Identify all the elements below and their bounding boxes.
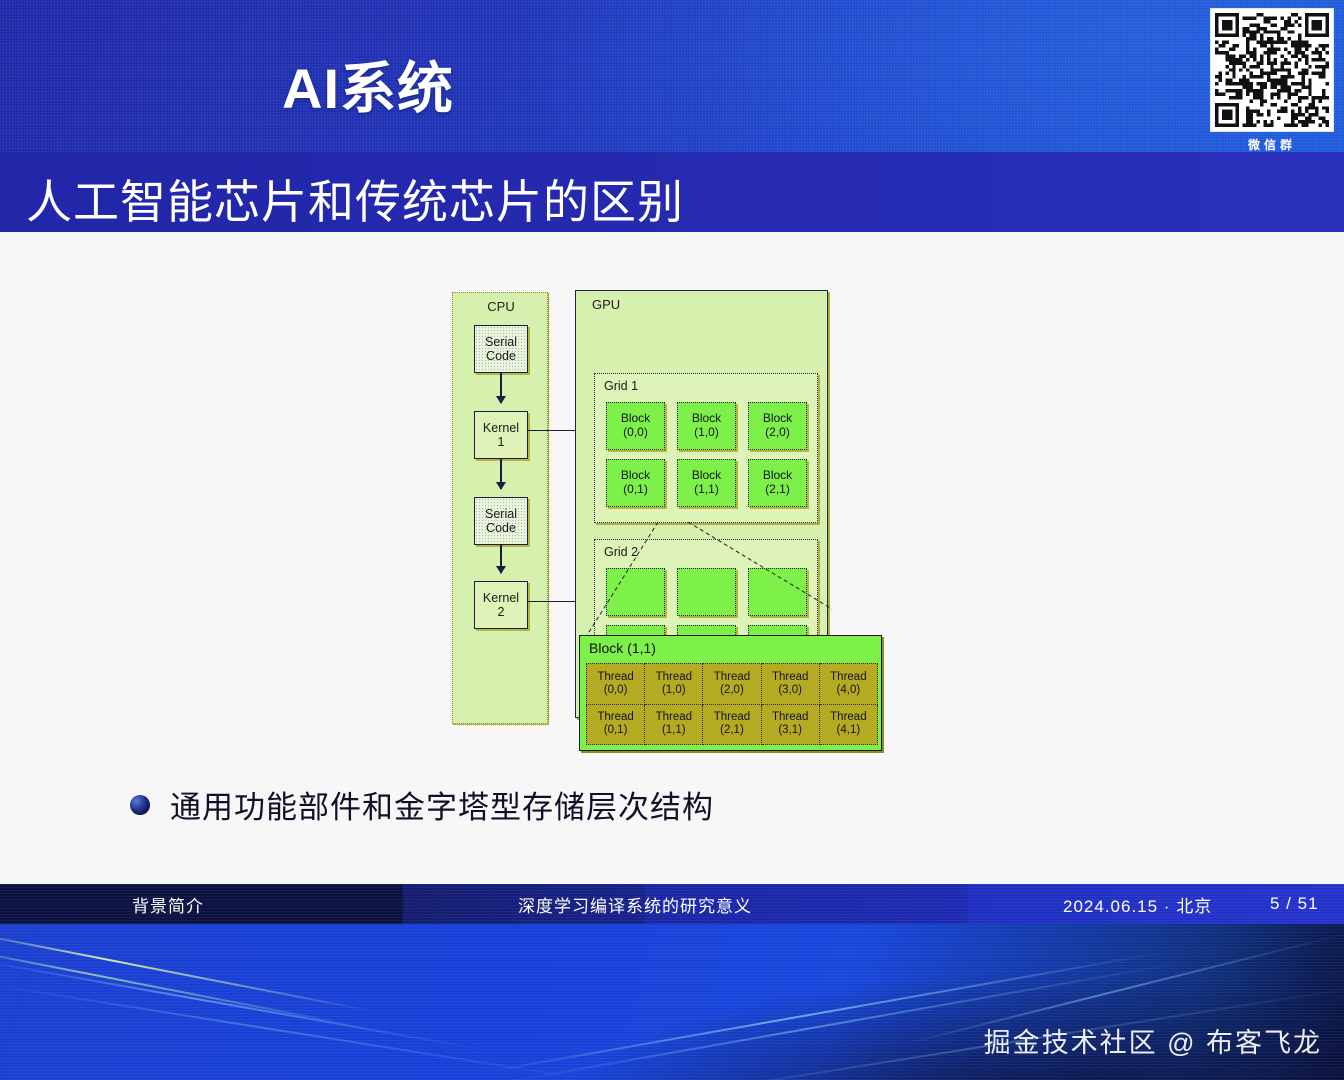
- grid1-block-1-1: Block (1,1): [677, 459, 736, 507]
- block-line-1: Block: [692, 412, 721, 426]
- thread-line-1: Thread: [714, 711, 750, 723]
- block-line-1: Block: [763, 469, 792, 483]
- node-line-2: Code: [486, 521, 516, 535]
- thread-cell-1-0: Thread (1,0): [645, 664, 703, 705]
- grid1-block-2-0: Block (2,0): [748, 402, 807, 450]
- cpu-node-serial-code-1: Serial Code: [474, 325, 528, 373]
- grid2-block-2-0: [748, 568, 807, 616]
- grid-label: Grid 2: [604, 545, 638, 559]
- block-line-2: (1,0): [694, 426, 719, 440]
- thread-cell-2-1: Thread (2,1): [703, 704, 761, 745]
- node-line-1: Kernel: [483, 591, 519, 605]
- thread-line-2: (1,1): [662, 724, 686, 736]
- page-title: AI系统: [282, 44, 454, 125]
- thread-cell-4-1: Thread (4,1): [819, 704, 877, 745]
- slide-footer-bar: 背景简介 深度学习编译系统的研究意义 2024.06.15 · 北京 5 / 5…: [0, 884, 1344, 924]
- cpu-node-kernel-1: Kernel 1: [474, 411, 528, 459]
- thread-cell-0-1: Thread (0,1): [587, 704, 645, 745]
- cuda-architecture-diagram: CPU Serial Code Kernel 1 Serial Code: [452, 290, 832, 760]
- thread-line-2: (1,0): [662, 684, 686, 696]
- watermark-text: 掘金技术社区 @ 布客飞龙: [984, 1021, 1322, 1060]
- cpu-node-serial-code-2: Serial Code: [474, 497, 528, 545]
- block-line-1: Block: [692, 469, 721, 483]
- section-subtitle-bar: 人工智能芯片和传统芯片的区别: [0, 152, 1344, 232]
- thread-line-2: (2,0): [720, 684, 744, 696]
- node-line-1: Serial: [485, 507, 517, 521]
- thread-line-1: Thread: [656, 711, 692, 723]
- qr-code-svg: [1215, 13, 1329, 127]
- thread-cell-3-1: Thread (3,1): [761, 704, 819, 745]
- thread-line-2: (4,0): [837, 684, 861, 696]
- node-line-2: Code: [486, 349, 516, 363]
- grid1-block-0-1: Block (0,1): [606, 459, 665, 507]
- thread-cell-3-0: Thread (3,0): [761, 664, 819, 705]
- thread-line-1: Thread: [772, 671, 808, 683]
- block-line-2: (1,1): [694, 483, 719, 497]
- thread-row: Thread (0,1) Thread (1,1) Thread (2,1): [587, 704, 878, 745]
- block-line-2: (2,0): [765, 426, 790, 440]
- block-line-1: Block: [621, 469, 650, 483]
- thread-line-2: (4,1): [837, 724, 861, 736]
- thread-line-2: (3,0): [778, 684, 802, 696]
- thread-cell-4-0: Thread (4,0): [819, 664, 877, 705]
- thread-line-1: Thread: [830, 711, 866, 723]
- grid2-block-1-0: [677, 568, 736, 616]
- slide-header: AI系统 微信群: [0, 0, 1344, 152]
- footer-date: 2024.06.15 · 北京: [1063, 884, 1212, 924]
- footer-section: 背景简介: [132, 884, 204, 924]
- cpu-container: CPU Serial Code Kernel 1 Serial Code: [452, 292, 548, 724]
- thread-line-2: (0,1): [604, 724, 628, 736]
- grid1-block-2-1: Block (2,1): [748, 459, 807, 507]
- block-line-1: Block: [621, 412, 650, 426]
- qr-code-icon: [1210, 8, 1334, 132]
- slide-bottom-decoration: 掘金技术社区 @ 布客飞龙: [0, 924, 1344, 1080]
- grid1-block-0-0: Block (0,0): [606, 402, 665, 450]
- cpu-node-kernel-2: Kernel 2: [474, 581, 528, 629]
- footer-page-number: 5 / 51: [1270, 884, 1319, 924]
- grid1-block-1-0: Block (1,0): [677, 402, 736, 450]
- section-subtitle: 人工智能芯片和传统芯片的区别: [26, 166, 684, 232]
- thread-grid-table: Thread (0,0) Thread (1,0) Thread (2,0): [586, 663, 878, 745]
- node-line-2: 1: [498, 435, 505, 449]
- thread-line-1: Thread: [714, 671, 750, 683]
- wechat-group-qr: 微信群: [1210, 8, 1334, 152]
- thread-cell-1-1: Thread (1,1): [645, 704, 703, 745]
- thread-line-1: Thread: [597, 671, 633, 683]
- thread-cell-2-0: Thread (2,0): [703, 664, 761, 705]
- thread-line-2: (2,1): [720, 724, 744, 736]
- node-line-2: 2: [498, 605, 505, 619]
- thread-cell-0-0: Thread (0,0): [587, 664, 645, 705]
- node-line-1: Serial: [485, 335, 517, 349]
- grid2-block-0-0: [606, 568, 665, 616]
- block-detail-callout: Block (1,1) Thread (0,0) Thread (1,0): [579, 635, 882, 751]
- gpu-label: GPU: [592, 297, 620, 312]
- thread-line-1: Thread: [772, 711, 808, 723]
- block-detail-title: Block (1,1): [589, 640, 656, 656]
- bullet-label: 通用功能部件和金字塔型存储层次结构: [170, 782, 714, 827]
- thread-line-1: Thread: [597, 711, 633, 723]
- block-line-2: (0,0): [623, 426, 648, 440]
- flow-arrow-down-3: [500, 545, 502, 573]
- cpu-label: CPU: [453, 299, 549, 314]
- thread-row: Thread (0,0) Thread (1,0) Thread (2,0): [587, 664, 878, 705]
- block-line-2: (2,1): [765, 483, 790, 497]
- block-line-1: Block: [763, 412, 792, 426]
- flow-arrow-down-2: [500, 459, 502, 489]
- footer-chapter: 深度学习编译系统的研究意义: [518, 884, 752, 924]
- bullet-sphere-icon: [130, 795, 150, 815]
- node-line-1: Kernel: [483, 421, 519, 435]
- gpu-grid-1: Grid 1 Block (0,0) Block (1,0) Block (2,…: [594, 373, 818, 523]
- bullet-item: 通用功能部件和金字塔型存储层次结构: [130, 782, 714, 827]
- slide-root: AI系统 微信群 人工智能芯片和传统芯片的区别 CPU: [0, 0, 1344, 1080]
- thread-line-2: (0,0): [604, 684, 628, 696]
- thread-line-2: (3,1): [778, 724, 802, 736]
- block-line-2: (0,1): [623, 483, 648, 497]
- grid-label: Grid 1: [604, 379, 638, 393]
- thread-line-1: Thread: [656, 671, 692, 683]
- qr-label: 微信群: [1210, 136, 1334, 152]
- thread-line-1: Thread: [830, 671, 866, 683]
- slide-body: CPU Serial Code Kernel 1 Serial Code: [0, 232, 1344, 884]
- flow-arrow-down-1: [500, 373, 502, 403]
